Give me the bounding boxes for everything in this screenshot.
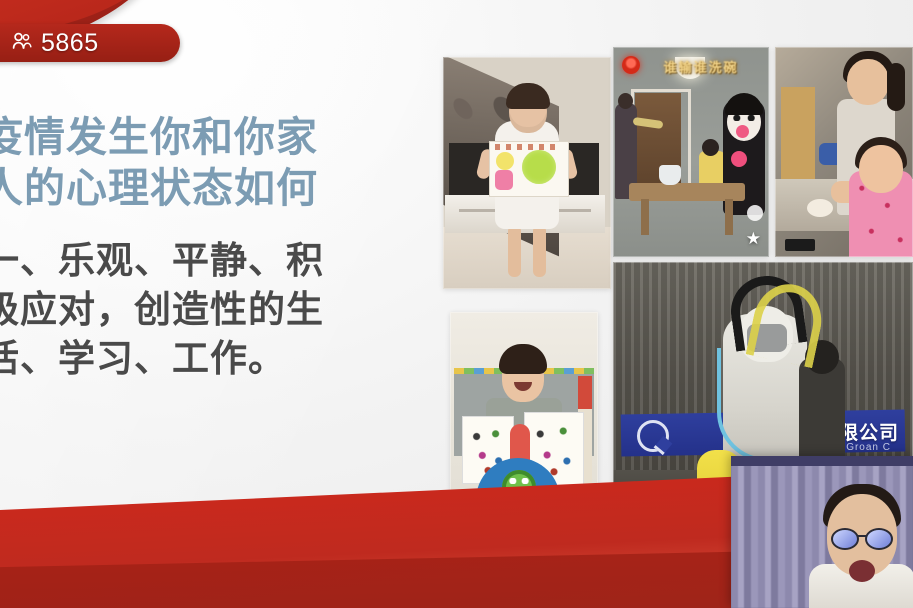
photo-living-room-content [613, 47, 769, 257]
photo-kitchen-content [775, 47, 913, 257]
viewer-count-badge: 5865 [0, 24, 180, 62]
reaction-bubble-icon [747, 205, 763, 221]
star-icon: ★ [746, 230, 761, 247]
photo-girl-with-drawing [443, 57, 611, 289]
slide-body-text: 一、乐观、平静、积 极应对，创造性的生 活、学习、工作。 [0, 236, 372, 384]
livestream-screen: 5865 疫情发生你和你家 人的心理状态如何 一、乐观、平静、积 极应对，创造性… [0, 0, 913, 608]
viewer-count-value: 5865 [41, 31, 99, 56]
child-drawing [489, 141, 569, 197]
people-icon [12, 32, 32, 55]
photo-living-room-video: 谁输谁洗碗 ★ [613, 47, 769, 257]
glasses-icon [831, 528, 893, 546]
photo-kitchen-kids [775, 47, 913, 257]
presenter-webcam-overlay[interactable] [731, 456, 913, 608]
record-dot-icon [622, 56, 640, 74]
video-overlay-caption: 谁输谁洗碗 [645, 57, 757, 76]
company-logo-icon [637, 420, 669, 452]
photo-girl-content [443, 57, 611, 289]
slide-text-block: 疫情发生你和你家 人的心理状态如何 一、乐观、平静、积 极应对，创造性的生 活、… [0, 112, 372, 383]
slide-title: 疫情发生你和你家 人的心理状态如何 [0, 112, 372, 214]
